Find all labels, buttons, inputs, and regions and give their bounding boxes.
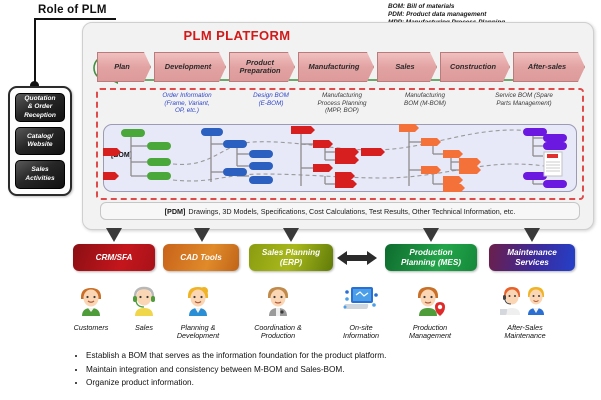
- bom-label-mpp: Manufacturing Process Planning (MPP, BOP…: [298, 92, 386, 115]
- plm-platform-heading: PLM PLATFORM: [132, 28, 342, 43]
- sales-channel-stack: Quotation & Order Reception Catalog/ Web…: [8, 86, 72, 196]
- banner-cad-tools[interactable]: CAD Tools: [163, 244, 239, 271]
- pdm-tag: [PDM]: [165, 207, 186, 216]
- title-connector-vertical: [34, 18, 36, 86]
- role-customers: Customers: [61, 283, 121, 332]
- bullet-item-2: Maintain integration and consistency bet…: [86, 363, 542, 377]
- role-planning-development: Planning & Development: [168, 283, 228, 341]
- bom-column-labels: Order Information (Frame, Variant, OP, e…: [100, 92, 580, 122]
- legend-item-pdm: PDM: Product data management: [388, 11, 598, 19]
- bom-tree-graphic: [103, 124, 577, 192]
- role-label-sales: Sales: [114, 324, 174, 332]
- stack-item-quotation[interactable]: Quotation & Order Reception: [15, 93, 65, 122]
- role-coordination-production: Coordination & Production: [248, 283, 308, 341]
- bom-label-manufacturing-bom: Manufacturing BOM (M-BOM): [384, 92, 466, 107]
- role-label-production-management: Production Management: [400, 324, 460, 341]
- page-title: Role of PLM: [38, 4, 107, 16]
- stage-plan[interactable]: Plan: [97, 52, 151, 82]
- person-location-icon: [412, 283, 448, 317]
- stage-sales[interactable]: Sales: [377, 52, 437, 82]
- role-label-onsite-information: On-site Information: [331, 324, 391, 341]
- computer-network-icon: [343, 283, 379, 317]
- banner-crm-sfa[interactable]: CRM/SFA: [73, 244, 155, 271]
- role-label-customers: Customers: [61, 324, 121, 332]
- role-label-coordination-production: Coordination & Production: [248, 324, 308, 341]
- stage-after-sales[interactable]: After-sales: [513, 52, 585, 82]
- bom-label-order-information: Order Information (Frame, Variant, OP, e…: [138, 92, 236, 115]
- pdm-information-bar: [PDM] Drawings, 3D Models, Specification…: [100, 202, 580, 220]
- role-sales: Sales: [114, 283, 174, 332]
- lifecycle-stage-row: Plan Development Product Preparation Man…: [97, 52, 579, 82]
- banner-sales-planning-erp[interactable]: Sales Planning (ERP): [249, 244, 333, 271]
- summary-bullets: Establish a BOM that serves as the infor…: [72, 349, 542, 390]
- person-customer-icon: [74, 283, 108, 317]
- pdm-text: Drawings, 3D Models, Specifications, Cos…: [188, 207, 515, 216]
- stage-development[interactable]: Development: [154, 52, 226, 82]
- bidirectional-arrow-icon: [337, 249, 381, 267]
- stage-product-preparation[interactable]: Product Preparation: [229, 52, 295, 82]
- banner-maintenance-services[interactable]: Maintenance Services: [489, 244, 575, 271]
- stack-item-sales-activities[interactable]: Sales Activities: [15, 160, 65, 189]
- person-headset-icon: [127, 283, 161, 317]
- legend-item-bom: BOM: Bill of materials: [388, 3, 598, 11]
- bullet-item-1: Establish a BOM that serves as the infor…: [86, 349, 542, 363]
- stack-item-catalog[interactable]: Catalog/ Website: [15, 127, 65, 156]
- stage-construction[interactable]: Construction: [440, 52, 510, 82]
- banner-production-planning-mes[interactable]: Production Planning (MES): [385, 244, 477, 271]
- title-connector-horizontal: [34, 18, 116, 20]
- role-production-management: Production Management: [400, 283, 460, 341]
- bom-label-service-bom: Service BOM (Spare Parts Management): [472, 92, 576, 107]
- role-label-planning-development: Planning & Development: [168, 324, 228, 341]
- bullet-item-3: Organize product information.: [86, 376, 542, 390]
- role-after-sales-maintenance: After-Sales Maintenance: [489, 283, 561, 341]
- role-onsite-information: On-site Information: [331, 283, 391, 341]
- person-engineer-icon: [181, 283, 215, 317]
- bom-label-design-bom: Design BOM (E-BOM): [234, 92, 308, 107]
- stage-manufacturing[interactable]: Manufacturing: [298, 52, 374, 82]
- role-label-after-sales-maintenance: After-Sales Maintenance: [489, 324, 561, 341]
- person-worker-icon: [261, 283, 295, 317]
- person-support-pair-icon: [500, 283, 550, 317]
